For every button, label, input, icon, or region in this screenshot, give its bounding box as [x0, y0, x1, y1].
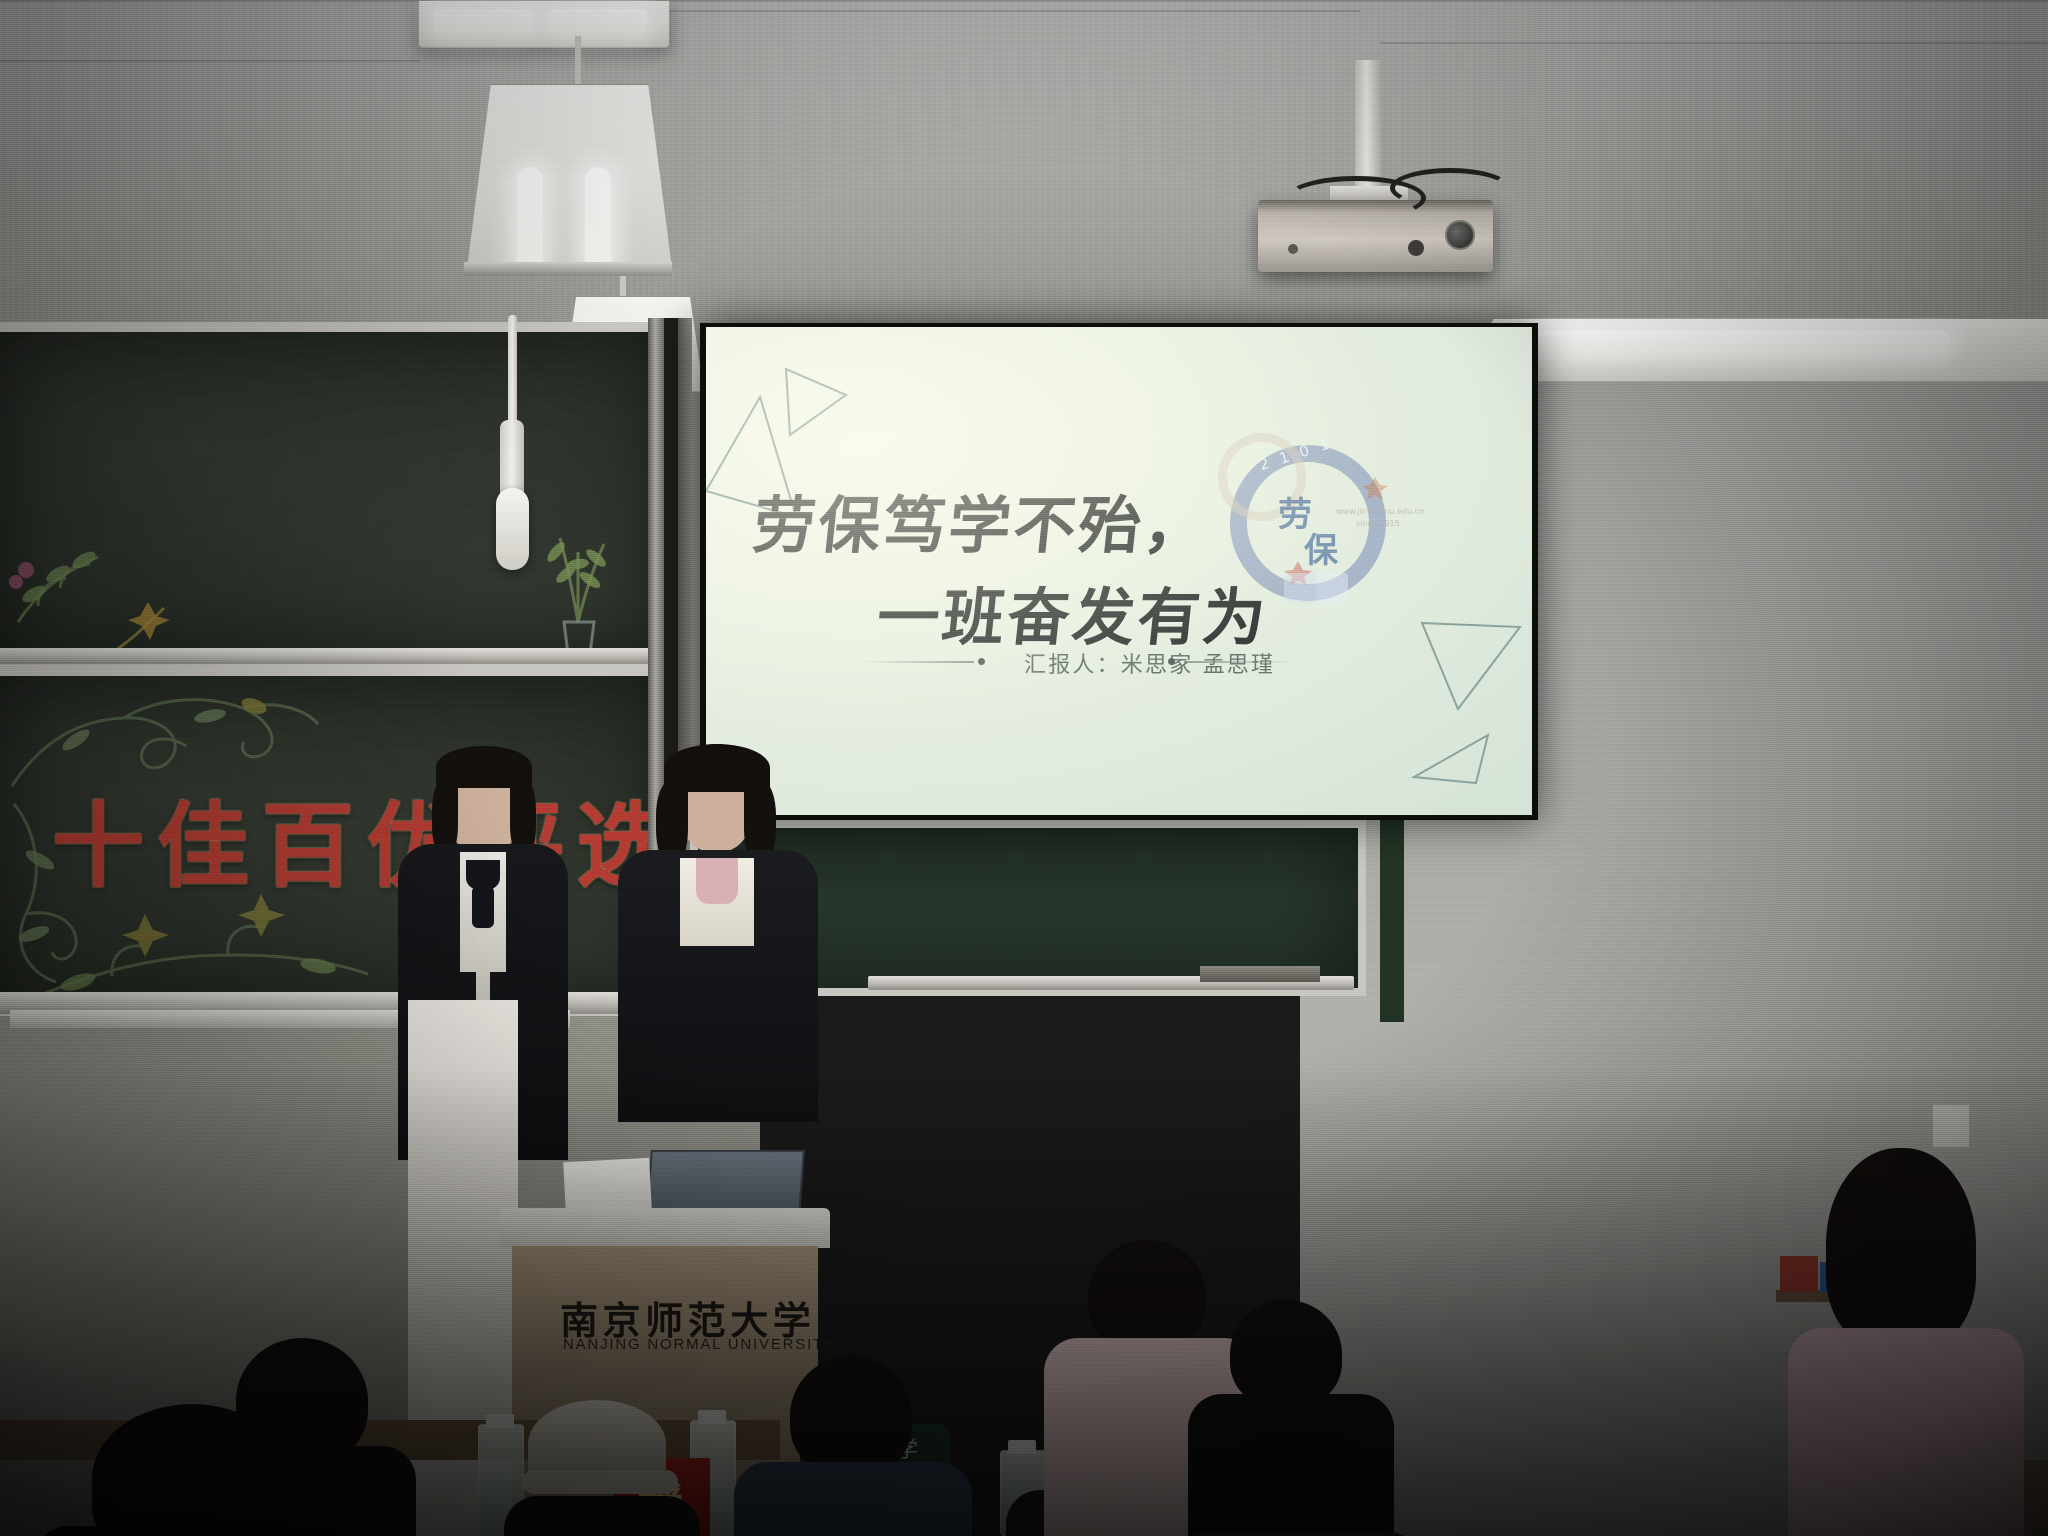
ceiling-light-1 [418, 0, 670, 48]
wall-switch-panel[interactable] [1932, 1104, 1970, 1148]
chalk-tray-upper [0, 648, 656, 664]
decorative-triangle-4 [1406, 699, 1496, 789]
classroom-photo: 金 陵 女 子 学 院 [0, 0, 2048, 1536]
slide-title-line-2: 一班奋发有为 [873, 567, 1273, 657]
subtitle-rule-right [1184, 661, 1296, 663]
logo-leaf-icon-1 [1362, 475, 1388, 506]
subtitle-rule-left [862, 661, 974, 663]
class-logo-url-line2: since 1915 [1356, 519, 1400, 529]
logo-book-icon [1284, 573, 1348, 603]
podium-top [500, 1208, 830, 1248]
microphone-icon [496, 488, 529, 570]
class-logo-url-line1: www.jinvb.nnu.edu.cn [1336, 507, 1424, 517]
slide-title-line-1: 劳保笃学不殆， [749, 475, 1214, 565]
slide-presenter-line: 汇报人：米思家 孟思瑾 [1024, 647, 1275, 679]
subtitle-dot-right [1168, 658, 1175, 665]
blackboard-lower-title: 十佳百优评选 [52, 772, 666, 905]
projection-screen: 2 1 0 1 劳 保 www.jinvb.nnu.edu.cn since 1… [706, 327, 1532, 815]
ceiling-light-2 [466, 84, 673, 276]
presenter-right [618, 742, 818, 1122]
ceiling-light-4 [1458, 318, 2048, 382]
projector-lens-icon [1445, 220, 1475, 250]
red-box-item [1780, 1256, 1818, 1292]
blackboard-lower: 十佳百优评选 [0, 666, 676, 1016]
blackboard-upper: 金 陵 女 子 学 院 [0, 322, 676, 672]
podium-university-name-en: NANJING NORMAL UNIVERSITY [563, 1336, 836, 1353]
chalk-vase-decoration [520, 518, 650, 658]
subtitle-dot-left [978, 658, 985, 665]
